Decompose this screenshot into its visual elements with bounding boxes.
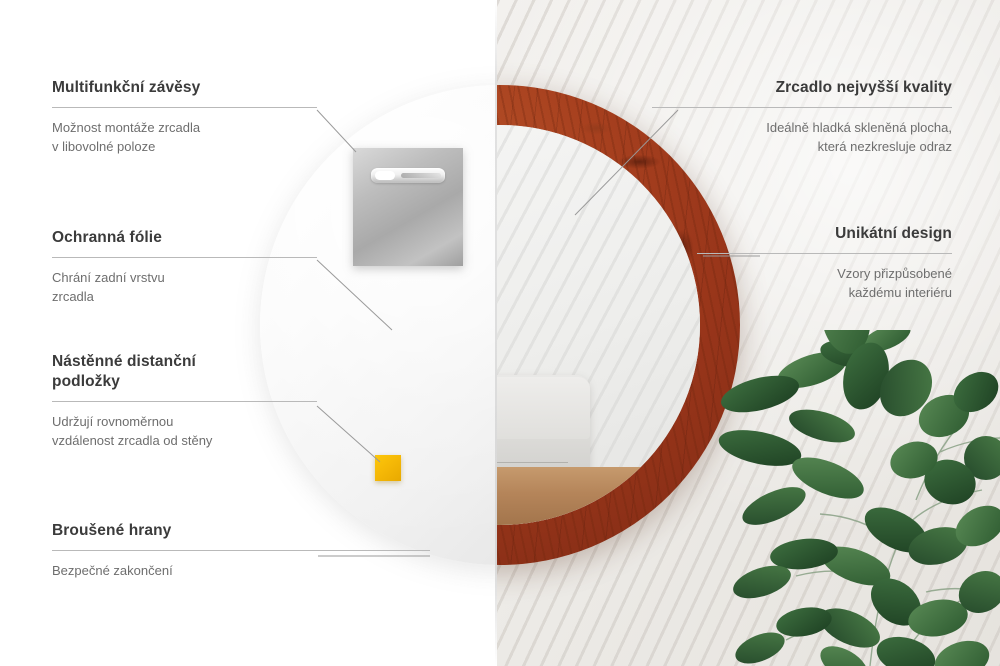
hanger-slot-groove <box>401 173 441 178</box>
feature-rule <box>52 107 317 108</box>
feature-description: Chrání zadní vrstvuzrcadla <box>52 269 317 307</box>
green-foliage-branches-icon <box>700 330 1000 666</box>
feature-description: Udržují rovnoměrnouvzdálenost zrcadla od… <box>52 413 317 451</box>
half-split-seam <box>495 0 497 666</box>
feature-rule <box>697 253 952 254</box>
feature-title: Multifunkční závěsy <box>52 78 317 98</box>
infographic-canvas: Multifunkční závěsy Možnost montáže zrca… <box>0 0 1000 666</box>
spacer-pad-icon <box>375 455 401 481</box>
feature-title: Unikátní design <box>697 224 952 244</box>
feature-rule <box>52 257 317 258</box>
feature-title: Ochranná fólie <box>52 228 317 248</box>
hanger-plate-icon <box>353 148 463 266</box>
feature-label-zrcadlo-nejvyssi-kvality: Zrcadlo nejvyšší kvality Ideálně hladká … <box>652 78 952 157</box>
hanger-slot <box>371 168 445 183</box>
feature-label-unikatni-design: Unikátní design Vzory přizpůsobenékaždém… <box>697 224 952 303</box>
feature-label-multifunkcni-zavesy: Multifunkční závěsy Možnost montáže zrca… <box>52 78 317 157</box>
hanger-slot-hole <box>375 171 395 180</box>
feature-label-ochranna-folie: Ochranná fólie Chrání zadní vrstvuzrcadl… <box>52 228 317 307</box>
feature-description: Ideálně hladká skleněná plocha,která nez… <box>652 119 952 157</box>
feature-rule <box>52 550 430 551</box>
feature-label-nastenne-distancni-podlozky: Nástěnné distančnípodložky Udržují rovno… <box>52 352 317 451</box>
feature-label-brousene-hrany: Broušené hrany Bezpečné zakončení <box>52 521 430 581</box>
feature-rule <box>652 107 952 108</box>
feature-title: Nástěnné distančnípodložky <box>52 352 317 392</box>
feature-title: Zrcadlo nejvyšší kvality <box>652 78 952 98</box>
feature-title: Broušené hrany <box>52 521 430 541</box>
feature-rule <box>52 401 317 402</box>
feature-description: Možnost montáže zrcadlav libovolné poloz… <box>52 119 317 157</box>
feature-description: Vzory přizpůsobenékaždému interiéru <box>697 265 952 303</box>
feature-description: Bezpečné zakončení <box>52 562 430 581</box>
